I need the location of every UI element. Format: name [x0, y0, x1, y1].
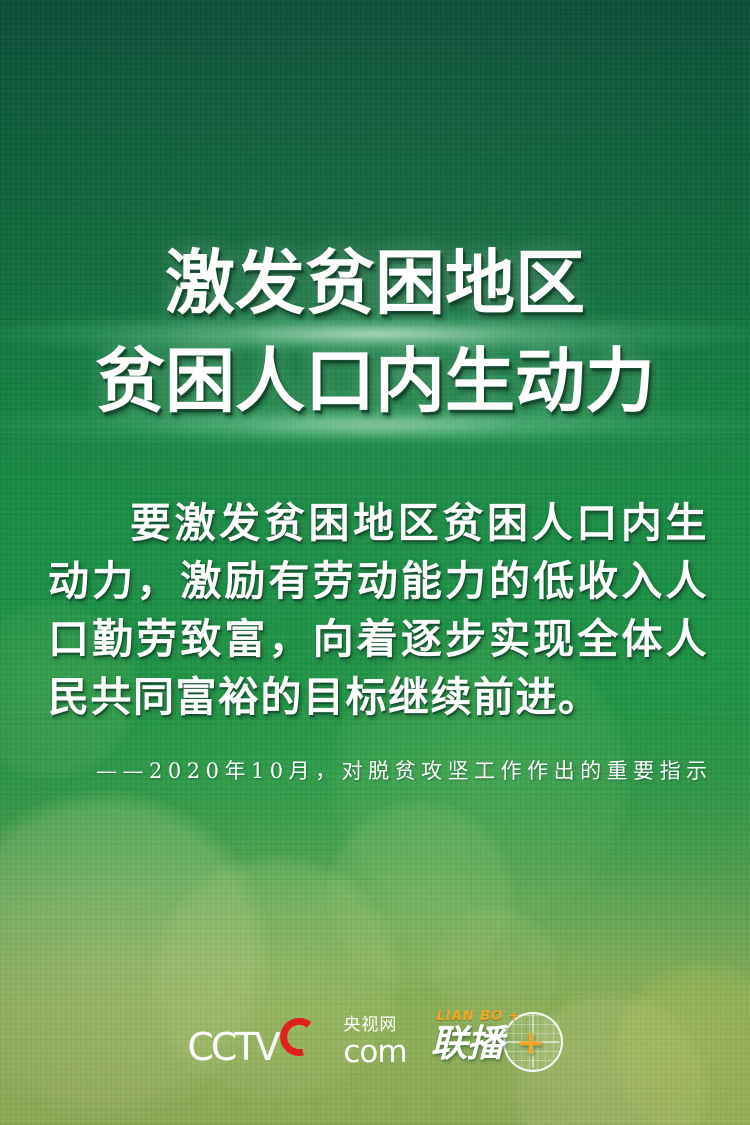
cctv-domain-suffix: com — [343, 1037, 406, 1068]
cctv-chinese-name: 央视网 — [343, 1017, 406, 1034]
cctv-wordmark: CCTV — [187, 1014, 339, 1070]
lianbo-plus-sign: + — [517, 1026, 546, 1060]
poster-headline: 激发贫困地区 贫困人口内生动力 — [0, 248, 750, 416]
bokeh-circle — [325, 800, 515, 990]
logo-row: CCTV 央视网 com LIAN BO + 联播 + — [0, 1006, 750, 1076]
lianbo-plus-logo[interactable]: LIAN BO + 联播 + — [431, 1010, 563, 1072]
cctv-red-arc-icon — [273, 1016, 317, 1060]
quote-attribution: ——2020年10月，对脱贫攻坚工作作出的重要指示 — [96, 752, 714, 790]
cctv-letters: CCTV — [187, 1028, 277, 1066]
cctv-logo[interactable]: CCTV 央视网 com — [187, 1012, 406, 1070]
headline-line-2: 贫困人口内生动力 — [0, 346, 750, 416]
quote-body-text: 要激发贫困地区贫困人口内生动力，激励有劳动能力的低收入人口勤劳致富，向着逐步实现… — [48, 494, 708, 726]
poster-canvas: 激发贫困地区 贫困人口内生动力 要激发贫困地区贫困人口内生动力，激励有劳动能力的… — [0, 0, 750, 1125]
cctv-text-block: 央视网 com — [343, 1014, 406, 1070]
headline-line-1: 激发贫困地区 — [0, 248, 750, 318]
lianbo-chinese-text: 联播 — [431, 1025, 503, 1062]
